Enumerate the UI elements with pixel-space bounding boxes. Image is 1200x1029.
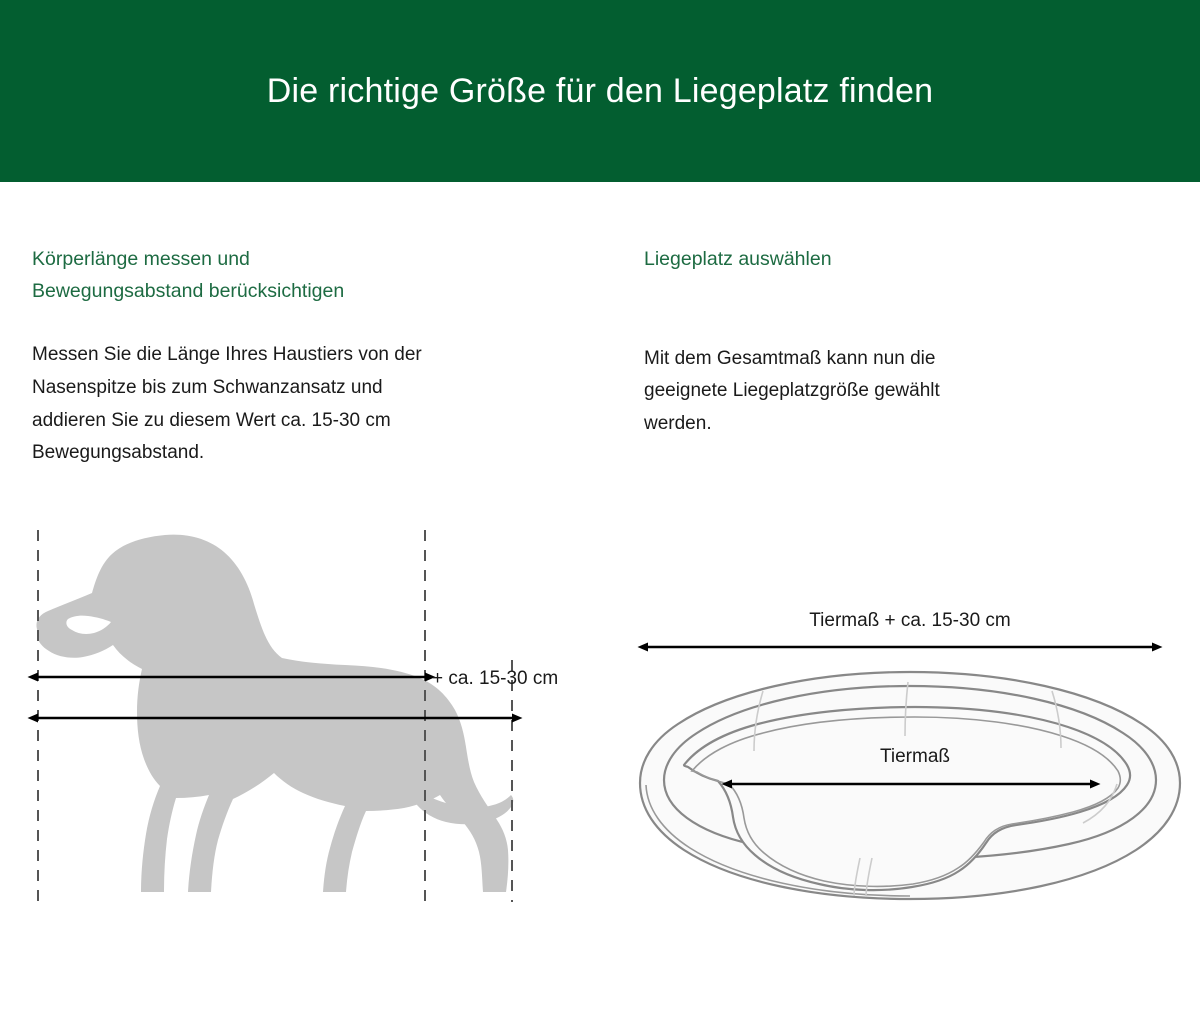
dog-measurement-diagram: + ca. 15-30 cm — [0, 512, 612, 932]
bed-inner-dimension-label: Tiermaß — [880, 746, 950, 767]
right-column-body-text: Mit dem Gesamtmaß kann nun die geeignete… — [644, 343, 1180, 441]
header-bar: Die richtige Größe für den Liegeplatz fi… — [0, 0, 1200, 182]
pet-bed-icon — [640, 672, 1180, 899]
infographic-page: Die richtige Größe für den Liegeplatz fi… — [0, 0, 1200, 1029]
left-column-heading: Körperlänge messen und Bewegungsabstand … — [32, 244, 612, 307]
left-column-body-text: Messen Sie die Länge Ihres Haustiers von… — [32, 339, 612, 470]
dog-silhouette-icon — [36, 535, 513, 892]
dog-dimension-label: + ca. 15-30 cm — [432, 668, 558, 689]
bed-measurement-diagram: Tiermaß + ca. 15-30 cm — [620, 596, 1200, 946]
bed-outer-dimension-label: Tiermaß + ca. 15-30 cm — [809, 610, 1011, 631]
right-column-heading: Liegeplatz auswählen — [644, 244, 1180, 276]
page-title: Die richtige Größe für den Liegeplatz fi… — [267, 71, 934, 112]
